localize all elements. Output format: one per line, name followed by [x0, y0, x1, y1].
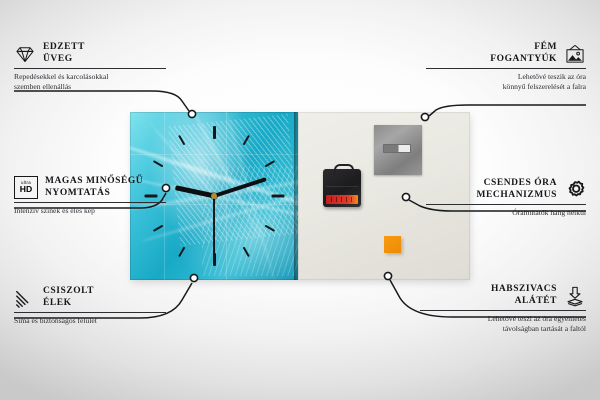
divider: [426, 204, 586, 205]
hanger-slot: [383, 144, 411, 153]
ultra-hd-icon-bottom: HD: [20, 185, 32, 194]
glass-reflection: [226, 112, 227, 280]
divider: [14, 202, 166, 203]
feature-title: ÜVEG: [43, 54, 85, 66]
feature-title: EDZETT: [43, 42, 85, 54]
mechanism-loop: [334, 164, 354, 175]
clock-tick: [153, 160, 164, 167]
glass-reflection: [130, 154, 298, 155]
feature-title: MAGAS MINŐSÉGŰ: [45, 176, 143, 188]
polished-edges-icon: [14, 287, 36, 309]
picture-hanger-icon: [564, 43, 586, 65]
gear-icon: [564, 179, 586, 201]
feature-subtitle: Repedésekkel és karcolásokkal: [14, 72, 166, 82]
quartz-clock-mechanism: [323, 169, 361, 207]
feature-silent-mechanism: CSENDES ÓRA MECHANIZMUS Óramutatók hang …: [426, 178, 586, 218]
clock-tick: [271, 195, 284, 198]
diamond-icon: [14, 43, 36, 65]
infographic-canvas: EDZETT ÜVEG Repedésekkel és karcolásokka…: [0, 0, 600, 400]
clock-tick: [213, 126, 216, 139]
divider: [420, 310, 586, 311]
feature-title: CSENDES ÓRA: [477, 178, 557, 190]
feature-subtitle: könnyű felszerelését a falra: [426, 82, 586, 92]
clock-center-cap: [211, 193, 217, 199]
connector-tempered-glass: [14, 91, 189, 111]
feature-subtitle: Óramutatók hang nélkül: [426, 208, 586, 218]
ultra-hd-icon: ultra HD: [14, 176, 38, 199]
feature-subtitle: Lehetővé teszi az óra egyenletes: [420, 314, 586, 324]
feature-polished-edges: CSISZOLT ÉLEK Sima és biztonságos felüle…: [14, 286, 166, 326]
feature-title: FÉM: [490, 42, 557, 54]
feature-tempered-glass: EDZETT ÜVEG Repedésekkel és karcolásokka…: [14, 42, 166, 91]
feature-title: HABSZIVACS: [491, 284, 557, 296]
feature-title: FOGANTYÚK: [490, 54, 557, 66]
feature-title: NYOMTATÁS: [45, 188, 143, 200]
divider: [426, 68, 586, 69]
metal-hanger-plate: [374, 125, 422, 175]
feature-title: CSISZOLT: [43, 286, 94, 298]
feature-subtitle: Lehetővé teszik az óra: [426, 72, 586, 82]
second-hand: [213, 196, 215, 256]
product-photo: [130, 112, 470, 280]
feature-foam-pad: HABSZIVACS ALÁTÉT Lehetővé teszi az óra …: [420, 284, 586, 333]
feature-high-quality-print: ultra HD MAGAS MINŐSÉGŰ NYOMTATÁS Intenz…: [14, 176, 166, 216]
clock-tick: [178, 247, 185, 258]
feature-title: MECHANIZMUS: [477, 190, 557, 202]
battery-compartment: [326, 195, 358, 204]
feature-title: ÉLEK: [43, 298, 94, 310]
feature-metal-hangers: FÉM FOGANTYÚK Lehetővé teszik az óra kön…: [426, 42, 586, 91]
feature-subtitle: Sima és biztonságos felület: [14, 316, 166, 326]
clock-tick: [153, 225, 164, 232]
feature-subtitle: szemben ellenállás: [14, 82, 166, 92]
orange-foam-pad: [384, 236, 401, 253]
divider: [14, 68, 166, 69]
divider: [14, 312, 166, 313]
mechanism-seam: [326, 186, 358, 187]
foam-pad-icon: [564, 285, 586, 307]
feature-title: ALÁTÉT: [491, 296, 557, 308]
feature-subtitle: Intenzív színek és éles kép: [14, 206, 166, 216]
feature-subtitle: távolságban tartását a faltól: [420, 324, 586, 334]
